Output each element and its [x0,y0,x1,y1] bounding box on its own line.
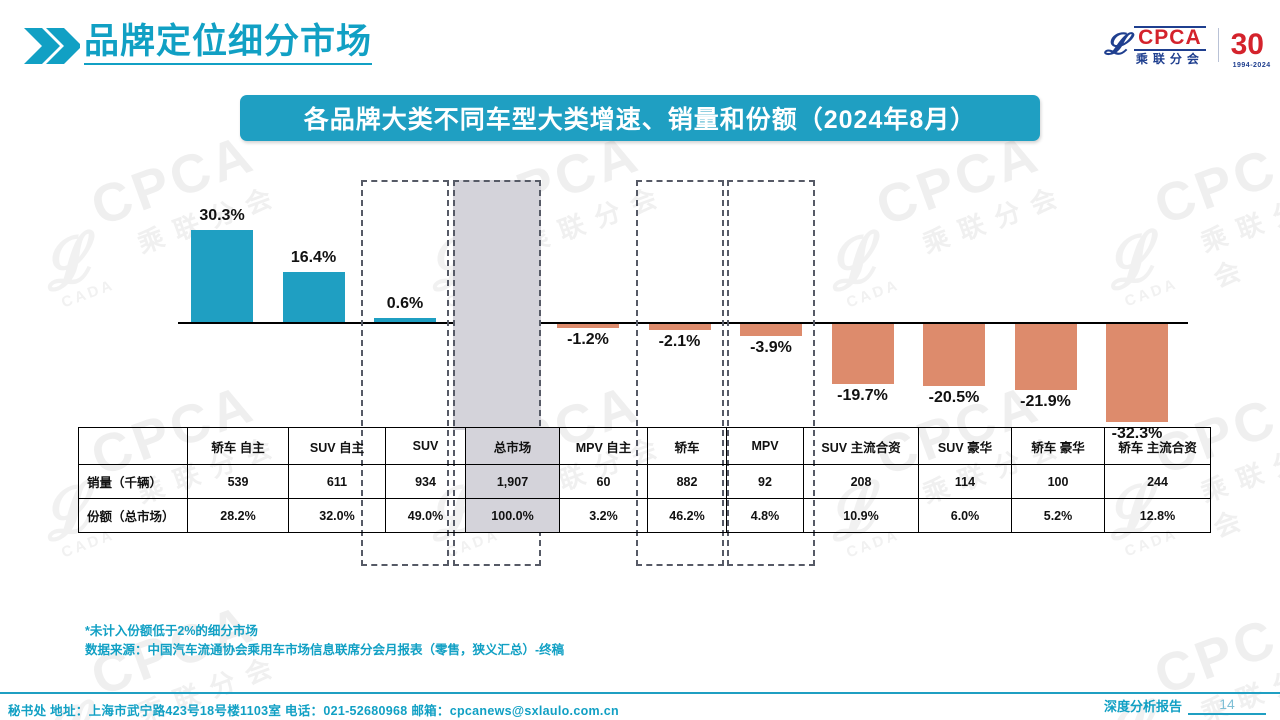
page-number: 14 [1219,697,1235,711]
table-row-label: 销量（千辆） [79,465,188,499]
table-header-row: 轿车 自主SUV 自主SUV总市场MPV 自主轿车MPVSUV 主流合资SUV … [79,428,1211,465]
footnote-line-2: 数据来源：中国汽车流通协会乘用车市场信息联席分会月报表（零售，狭义汇总）-终稿 [85,641,564,660]
table-cell: 4.8% [727,499,804,533]
table-header-SUV 主流合资: SUV 主流合资 [804,428,919,465]
bar-SUV 豪华 [923,324,985,386]
table-cell: 114 [919,465,1012,499]
table-cell: 208 [804,465,919,499]
table-cell: 100.0% [466,499,560,533]
bar-SUV 自主 [283,272,345,322]
data-table: 轿车 自主SUV 自主SUV总市场MPV 自主轿车MPVSUV 主流合资SUV … [78,427,1211,533]
table-cell: 92 [727,465,804,499]
table-cell: 934 [386,465,466,499]
cada-swoosh-icon: 𝓛 [1104,30,1126,60]
table-header-轿车 主流合资: 轿车 主流合资 [1105,428,1211,465]
subtitle-banner: 各品牌大类不同车型大类增速、销量和份额（2024年8月） [240,95,1040,141]
table-cell: 49.0% [386,499,466,533]
table-cell: 5.2% [1012,499,1105,533]
table-header-MPV: MPV [727,428,804,465]
table-cell: 12.8% [1105,499,1211,533]
bar-value-label-MPV 自主: -1.2% [535,331,641,349]
table-header-SUV 自主: SUV 自主 [289,428,386,465]
subtitle-text: 各品牌大类不同车型大类增速、销量和份额（2024年8月） [304,100,977,136]
table-cell: 6.0% [919,499,1012,533]
anniversary-badge: 30 1994-2024 [1231,30,1264,60]
bar-轿车 豪华 [1015,324,1077,390]
table-cell: 100 [1012,465,1105,499]
table-cell: 32.0% [289,499,386,533]
table-cell: 46.2% [648,499,727,533]
footnotes: *未计入份额低于2%的细分市场 数据来源：中国汽车流通协会乘用车市场信息联席分会… [85,622,564,661]
table-header-轿车: 轿车 [648,428,727,465]
table-row: 销量（千辆）5396119341,9076088292208114100244 [79,465,1211,499]
table-cell: 882 [648,465,727,499]
table-cell: 3.2% [560,499,648,533]
table-cell: 10.9% [804,499,919,533]
table-body: 销量（千辆）5396119341,9076088292208114100244份… [79,465,1211,533]
table-cell: 611 [289,465,386,499]
footer-report-label: 深度分析报告 [1104,696,1182,715]
table-header-轿车 自主: 轿车 自主 [188,428,289,465]
table-cell: 60 [560,465,648,499]
page-number-underline [1188,713,1266,715]
bar-SUV 主流合资 [832,324,894,384]
page-number-wrap: 14 [1188,697,1266,715]
logo-subtitle-text: 乘联分会 [1136,53,1204,65]
table-row: 份额（总市场）28.2%32.0%49.0%100.0%3.2%46.2%4.8… [79,499,1211,533]
table-cell: 539 [188,465,289,499]
bar-value-label-轿车 自主: 30.3% [169,207,275,225]
table-header-轿车 豪华: 轿车 豪华 [1012,428,1105,465]
cpca-logo: 𝓛 CPCA 乘联分会 30 1994-2024 [1104,24,1264,65]
table-header-SUV: SUV [386,428,466,465]
table-corner-cell [79,428,188,465]
bar-MPV 自主 [557,324,619,328]
logo-wordmark: CPCA 乘联分会 [1134,24,1206,65]
table-row-label: 份额（总市场） [79,499,188,533]
table-header-MPV 自主: MPV 自主 [560,428,648,465]
bar-value-label-SUV 豪华: -20.5% [901,389,1007,407]
bar-轿车 主流合资 [1106,324,1168,422]
bar-value-label-SUV 自主: 16.4% [261,249,367,267]
table-cell: 244 [1105,465,1211,499]
bar-轿车 自主 [191,230,253,322]
table-cell: 28.2% [188,499,289,533]
logo-cpca-text: CPCA [1134,24,1206,51]
footer-contact: 秘书处 地址：上海市武宁路423号18号楼1103室 电话：021-526809… [8,700,619,719]
page-title: 品牌定位细分市场 [84,24,372,65]
double-chevron-right-icon [24,28,80,69]
table-header-总市场: 总市场 [466,428,560,465]
footer-divider [0,692,1280,694]
anniversary-years: 1994-2024 [1233,62,1271,69]
table-header-SUV 豪华: SUV 豪华 [919,428,1012,465]
page-header: 品牌定位细分市场 [0,0,1280,90]
bar-value-label-轿车 豪华: -21.9% [993,393,1099,411]
table-cell: 1,907 [466,465,560,499]
anniversary-number: 30 [1231,28,1264,61]
bar-value-label-SUV 主流合资: -19.7% [810,387,916,405]
footnote-line-1: *未计入份额低于2%的细分市场 [85,622,564,641]
logo-divider [1218,28,1219,62]
footer-right: 深度分析报告 14 [1104,696,1266,715]
data-table-container: 轿车 自主SUV 自主SUV总市场MPV 自主轿车MPVSUV 主流合资SUV … [78,427,1211,533]
